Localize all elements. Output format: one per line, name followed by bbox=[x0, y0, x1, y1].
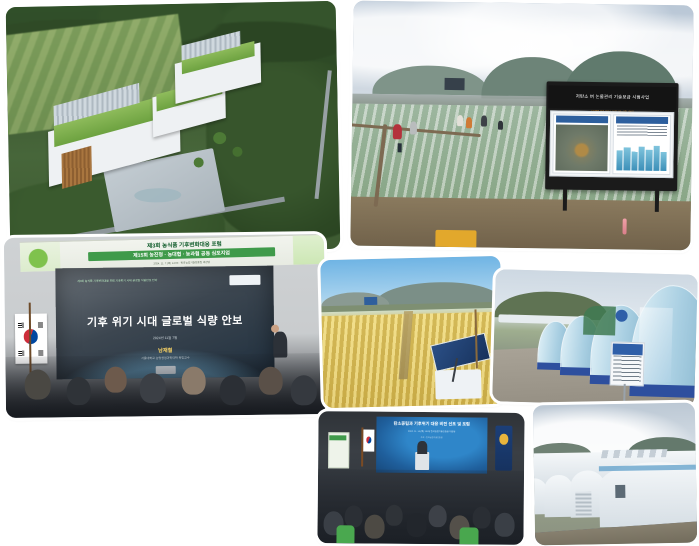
audience-head bbox=[386, 504, 403, 525]
chart-bar bbox=[631, 152, 638, 171]
audience-head bbox=[140, 373, 166, 403]
conference-speaker bbox=[417, 441, 427, 454]
audience-green-vest-b bbox=[460, 527, 479, 544]
korean-flag-small-taegeuk bbox=[366, 437, 371, 444]
greenhouse-field-scene bbox=[533, 403, 697, 546]
conference-screen-footer: 주최 : 한국농업기술진흥원 bbox=[376, 436, 487, 440]
greenhouse-vent-window bbox=[615, 485, 625, 498]
signboard-title: 저탄소 벼 논물관리 기술보급 시범사업 bbox=[576, 94, 650, 101]
photo-conference-hall[interactable]: 탄소중립과 기후위기 대응 비전 선포 및 포럼 2024. 11. 14.(목… bbox=[317, 411, 524, 545]
sensor-enclosure bbox=[435, 369, 483, 400]
signboard-right-panel bbox=[612, 115, 671, 176]
audience-green-vest-a bbox=[336, 525, 355, 544]
billboard-far bbox=[444, 78, 465, 91]
worker-red-legs bbox=[398, 143, 402, 152]
audience-head bbox=[258, 367, 282, 395]
institution-flag-emblem bbox=[500, 434, 508, 445]
audience-head bbox=[365, 514, 385, 538]
golden-rice-scene bbox=[320, 256, 504, 408]
slide-title: 기후 위기 시대 글로벌 식량 안보 bbox=[56, 312, 274, 331]
worker-orange bbox=[466, 117, 472, 128]
worker-center bbox=[457, 115, 463, 126]
conference-hall-scene: 탄소중립과 기후위기 대응 비전 선포 및 포럼 2024. 11. 14.(목… bbox=[317, 411, 524, 545]
greenhouse-door bbox=[575, 491, 592, 516]
worker-dark bbox=[481, 115, 487, 126]
photo-greenhouse-field[interactable] bbox=[533, 403, 697, 546]
standing-banner-stripe bbox=[330, 435, 347, 440]
photo-aerial-campus[interactable] bbox=[6, 1, 341, 255]
conference-screen-title: 탄소중립과 기후위기 대응 비전 선포 및 포럼 bbox=[376, 421, 487, 428]
greenhouse-info-placard[interactable] bbox=[610, 341, 646, 386]
photo-golden-rice-field[interactable] bbox=[320, 256, 504, 408]
audience-head bbox=[220, 375, 246, 405]
signboard-leg-right bbox=[655, 190, 659, 212]
photo-greenhouse-row[interactable] bbox=[492, 269, 698, 407]
worker-far bbox=[498, 120, 503, 129]
chart-bar bbox=[638, 147, 645, 171]
audience-head bbox=[495, 513, 515, 537]
placard-text-lines bbox=[613, 356, 642, 384]
rice-paddy-scene: 저탄소 벼 논물관리 기술보급 시범사업 기후변화 대응 저탄소 농업 기술 실… bbox=[350, 1, 693, 251]
forum-hall-scene: 제3회 농식품 기후변화대응 포럼 제15회 농진청 · 농대협 · 농과협 공… bbox=[4, 234, 326, 418]
chart-bar bbox=[624, 148, 631, 171]
greenhouse-row-scene bbox=[492, 269, 698, 407]
paddy-info-signboard[interactable]: 저탄소 벼 논물관리 기술보급 시범사업 기후변화 대응 저탄소 농업 기술 실… bbox=[545, 82, 679, 192]
greenhouse-roof-vents bbox=[601, 449, 667, 459]
audience-head bbox=[429, 505, 447, 527]
slide-corner-logo bbox=[230, 274, 261, 284]
pink-flower-marker bbox=[622, 219, 626, 235]
trigram-bottom-right bbox=[38, 350, 43, 355]
paddy-foreground bbox=[350, 196, 693, 250]
audience-head bbox=[290, 375, 316, 405]
yellow-crate bbox=[435, 230, 476, 251]
worker-red-jacket bbox=[393, 124, 402, 139]
trigram-top-right bbox=[38, 322, 43, 327]
conference-screen-subtitle: 2024. 11. 14.(목) 14:00 한국농업기술진흥원 대강당 bbox=[376, 429, 487, 434]
trigram-bottom-left bbox=[19, 351, 24, 356]
signboard-body bbox=[549, 111, 675, 179]
greenhouse-shade-net bbox=[583, 306, 616, 336]
aerial-campus-scene bbox=[6, 1, 341, 255]
audience-head bbox=[406, 513, 426, 537]
photo-rice-paddy-signboard[interactable]: 저탄소 벼 논물관리 기술보급 시범사업 기후변화 대응 저탄소 농업 기술 실… bbox=[350, 1, 693, 251]
worker-grey bbox=[410, 121, 417, 134]
photo-forum-presentation[interactable]: 제3회 농식품 기후변화대응 포럼 제15회 농진청 · 농대협 · 농과협 공… bbox=[4, 234, 326, 418]
tree-cluster-c bbox=[193, 157, 203, 167]
panel-text-lines bbox=[617, 126, 667, 137]
audience-head bbox=[344, 506, 362, 528]
chart-bar bbox=[616, 150, 623, 170]
podium bbox=[415, 452, 430, 471]
placard-header bbox=[613, 343, 644, 355]
institution-flag-right bbox=[495, 426, 512, 471]
left-panel-header bbox=[556, 116, 608, 124]
slide-top-note: 제3회 농식품 기후변화대응 포럼 기후위기 시대 글로벌 식량안보 전략 bbox=[77, 278, 157, 283]
chart-bar bbox=[646, 149, 653, 171]
audience-head bbox=[105, 366, 127, 392]
photo-collage: 저탄소 벼 논물관리 기술보급 시범사업 기후변화 대응 저탄소 농업 기술 실… bbox=[0, 0, 699, 546]
signboard-leg-left bbox=[563, 189, 567, 211]
right-panel-header bbox=[616, 117, 668, 125]
audience-head bbox=[25, 370, 51, 400]
forum-audience bbox=[5, 353, 326, 418]
conference-projection-screen: 탄소중립과 기후위기 대응 비전 선포 및 포럼 2024. 11. 14.(목… bbox=[376, 417, 488, 473]
forum-speaker-head bbox=[271, 325, 279, 333]
chart-bar bbox=[653, 146, 660, 172]
audience-head bbox=[66, 377, 90, 405]
ghg-bar-chart bbox=[616, 138, 667, 171]
signboard-header: 저탄소 벼 논물관리 기술보급 시범사업 bbox=[549, 85, 677, 110]
audience-head bbox=[182, 367, 206, 395]
trigram-top-left bbox=[18, 322, 23, 327]
audience-head bbox=[472, 507, 490, 529]
aerial-map-image bbox=[555, 125, 608, 172]
distant-greenhouse-strip bbox=[498, 314, 579, 324]
greenhouse-bay bbox=[544, 475, 574, 518]
chart-bar bbox=[660, 152, 667, 172]
signboard-left-panel bbox=[552, 114, 611, 175]
